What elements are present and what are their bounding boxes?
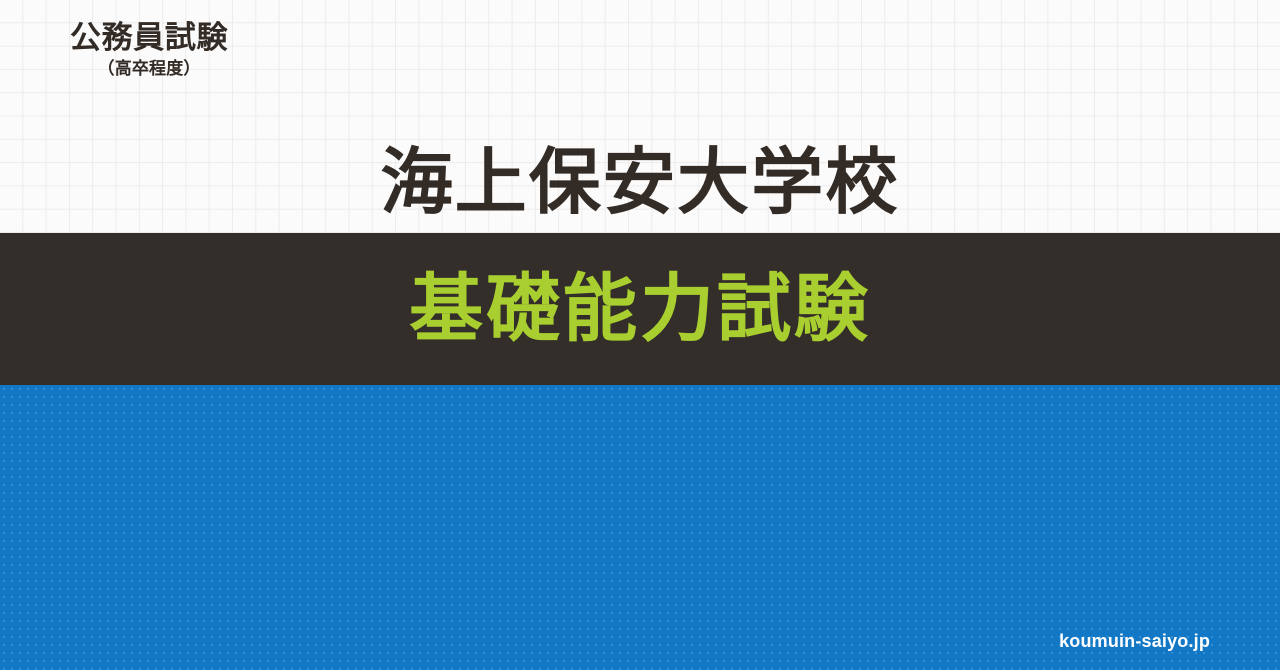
school-name-title: 海上保安大学校 (0, 146, 1280, 222)
paper-header-band: 公務員試験 （高卒程度） 海上保安大学校 (0, 0, 1280, 233)
site-url-label: koumuin-saiyo.jp (1059, 631, 1210, 652)
exam-category-eyebrow: 公務員試験 （高卒程度） (70, 20, 228, 77)
exam-level-label: （高卒程度） (70, 60, 228, 77)
exam-name-band: 基礎能力試験 (0, 233, 1280, 385)
exam-promo-banner: 公務員試験 （高卒程度） 海上保安大学校 基礎能力試験 2025年受験対策 1 … (0, 0, 1280, 670)
exam-name-title: 基礎能力試験 (409, 272, 871, 346)
exam-category-label: 公務員試験 (70, 20, 228, 56)
features-band: 2025年受験対策 1 科目別・分野別の出題範囲一覧を公開 2 過去問10年分が… (0, 385, 1280, 670)
